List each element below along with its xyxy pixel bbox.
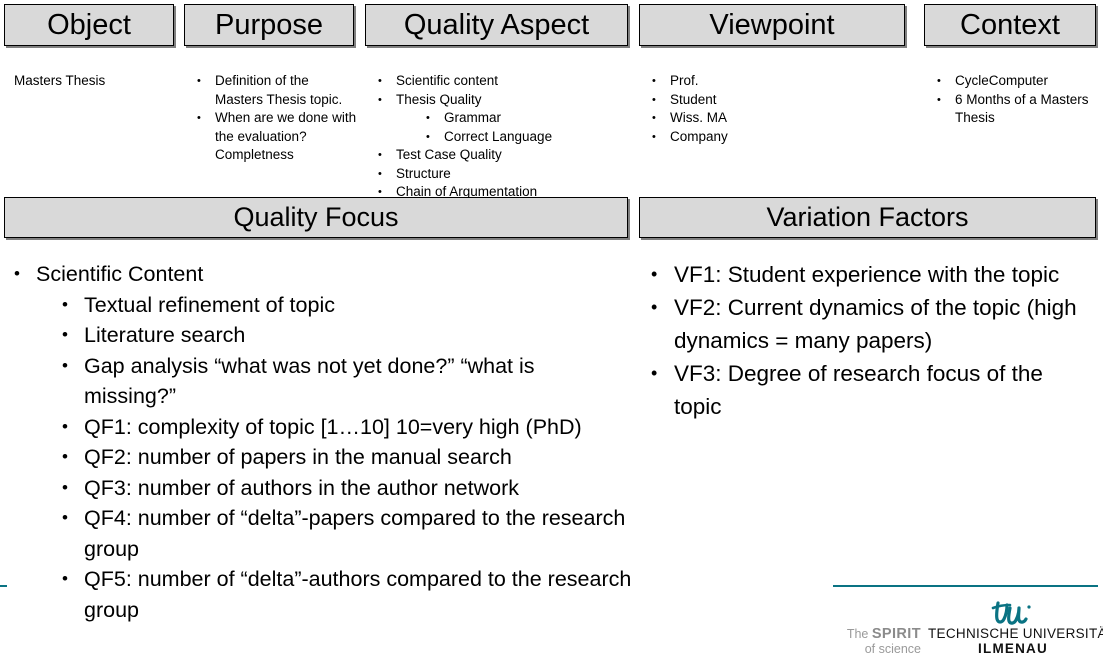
header-label-context: Context <box>960 11 1060 40</box>
viewpoint-item-3: Company <box>670 129 728 144</box>
header-box-variation-factors: Variation Factors <box>639 197 1096 238</box>
list-item: Test Case Quality <box>374 146 634 165</box>
list-item: QF4: number of “delta”-papers compared t… <box>36 503 632 564</box>
quality-focus-sublist: Textual refinement of topic Literature s… <box>36 290 632 626</box>
list-item: VF2: Current dynamics of the topic (high… <box>648 291 1090 357</box>
left-edge-tick <box>0 585 7 587</box>
tu-monogram-icon <box>928 600 1098 626</box>
header-label-quality-aspect: Quality Aspect <box>404 11 589 40</box>
list-item: Gap analysis “what was not yet done?” “w… <box>36 351 632 412</box>
quality-aspect-item-1: Thesis Quality <box>396 92 482 107</box>
quality-focus-item-3: QF1: complexity of topic [1…10] 10=very … <box>84 415 582 439</box>
quality-focus-item-7: QF5: number of “delta”-authors compared … <box>84 567 631 622</box>
header-box-quality-aspect: Quality Aspect <box>365 4 628 46</box>
quality-aspect-sub-1: Correct Language <box>444 129 552 144</box>
footer-divider <box>833 585 1098 587</box>
tu-ilmenau-logo: TECHNISCHE UNIVERSITÄT ILMENAU <box>928 600 1098 656</box>
quality-aspect-sub-0: Grammar <box>444 110 501 125</box>
list-item: Scientific Content Textual refinement of… <box>12 259 632 625</box>
spirit-the: The <box>847 627 872 641</box>
header-box-object: Object <box>4 4 174 46</box>
quality-focus-list: Scientific Content Textual refinement of… <box>12 259 632 625</box>
purpose-item-0: Definition of the Masters Thesis topic. <box>215 73 342 107</box>
list-item: Student <box>648 91 898 110</box>
quality-focus-item-0: Textual refinement of topic <box>84 293 335 317</box>
list-item: Definition of the Masters Thesis topic. <box>193 72 358 109</box>
university-name-line1: TECHNISCHE UNIVERSITÄT <box>928 626 1098 641</box>
viewpoint-list: Prof. Student Wiss. MA Company <box>648 72 898 146</box>
list-item: QF3: number of authors in the author net… <box>36 473 632 504</box>
context-item-1: 6 Months of a Masters Thesis <box>955 92 1089 126</box>
quality-aspect-sublist: Grammar Correct Language <box>396 109 634 146</box>
list-item: QF5: number of “delta”-authors compared … <box>36 564 632 625</box>
variation-factor-item-0: VF1: Student experience with the topic <box>674 262 1059 287</box>
context-item-0: CycleComputer <box>955 73 1048 88</box>
list-item: Textual refinement of topic <box>36 290 632 321</box>
header-box-viewpoint: Viewpoint <box>639 4 905 46</box>
quality-focus-root: Scientific Content <box>36 262 203 286</box>
purpose-item-1: When are we done with the evaluation? Co… <box>215 110 356 162</box>
quality-focus-body: Scientific Content Textual refinement of… <box>12 259 632 625</box>
viewpoint-item-0: Prof. <box>670 73 699 88</box>
list-item: Wiss. MA <box>648 109 898 128</box>
header-label-purpose: Purpose <box>215 11 323 40</box>
header-label-object: Object <box>47 11 131 40</box>
header-label-viewpoint: Viewpoint <box>709 11 834 40</box>
viewpoint-item-2: Wiss. MA <box>670 110 727 125</box>
list-item: VF1: Student experience with the topic <box>648 258 1090 291</box>
list-item: CycleComputer <box>933 72 1093 91</box>
list-item: When are we done with the evaluation? Co… <box>193 109 358 165</box>
variation-factor-item-1: VF2: Current dynamics of the topic (high… <box>674 295 1077 353</box>
list-item: 6 Months of a Masters Thesis <box>933 91 1093 128</box>
header-box-quality-focus: Quality Focus <box>4 197 628 238</box>
purpose-list: Definition of the Masters Thesis topic. … <box>193 72 358 165</box>
quality-focus-item-1: Literature search <box>84 323 245 347</box>
variation-factors-body: VF1: Student experience with the topic V… <box>648 258 1090 423</box>
slide-canvas: Object Purpose Quality Aspect Viewpoint … <box>0 0 1103 666</box>
quality-aspect-item-2: Test Case Quality <box>396 147 502 162</box>
viewpoint-item-1: Student <box>670 92 717 107</box>
column-body-object: Masters Thesis <box>14 72 174 91</box>
header-box-purpose: Purpose <box>184 4 354 46</box>
list-item: Correct Language <box>396 128 634 147</box>
quality-aspect-item-0: Scientific content <box>396 73 498 88</box>
column-body-context: CycleComputer 6 Months of a Masters Thes… <box>933 72 1093 128</box>
header-label-quality-focus: Quality Focus <box>233 204 398 231</box>
header-label-variation-factors: Variation Factors <box>766 204 968 231</box>
list-item: Prof. <box>648 72 898 91</box>
spirit-line-1: The SPIRIT <box>847 627 921 641</box>
spirit-of-science-logo: The SPIRIT of science <box>818 627 921 657</box>
column-body-viewpoint: Prof. Student Wiss. MA Company <box>648 72 898 146</box>
university-name-line2: ILMENAU <box>928 641 1098 656</box>
spirit-strong: SPIRIT <box>872 626 921 642</box>
quality-focus-item-6: QF4: number of “delta”-papers compared t… <box>84 506 625 561</box>
quality-focus-item-5: QF3: number of authors in the author net… <box>84 476 519 500</box>
list-item: Structure <box>374 165 634 184</box>
list-item: QF2: number of papers in the manual sear… <box>36 442 632 473</box>
header-box-context: Context <box>924 4 1096 46</box>
quality-aspect-item-3: Structure <box>396 166 451 181</box>
quality-focus-item-2: Gap analysis “what was not yet done?” “w… <box>84 354 535 409</box>
list-item: Literature search <box>36 320 632 351</box>
object-value: Masters Thesis <box>14 72 174 91</box>
spirit-of-science: of science <box>865 642 921 656</box>
quality-focus-item-4: QF2: number of papers in the manual sear… <box>84 445 512 469</box>
context-list: CycleComputer 6 Months of a Masters Thes… <box>933 72 1093 128</box>
list-item: QF1: complexity of topic [1…10] 10=very … <box>36 412 632 443</box>
list-item: Thesis Quality Grammar Correct Language <box>374 91 634 147</box>
list-item: VF3: Degree of research focus of the top… <box>648 357 1090 423</box>
list-item: Company <box>648 128 898 147</box>
list-item: Grammar <box>396 109 634 128</box>
list-item: Scientific content <box>374 72 634 91</box>
variation-factors-list: VF1: Student experience with the topic V… <box>648 258 1090 423</box>
variation-factor-item-2: VF3: Degree of research focus of the top… <box>674 361 1043 419</box>
column-body-purpose: Definition of the Masters Thesis topic. … <box>193 72 358 165</box>
